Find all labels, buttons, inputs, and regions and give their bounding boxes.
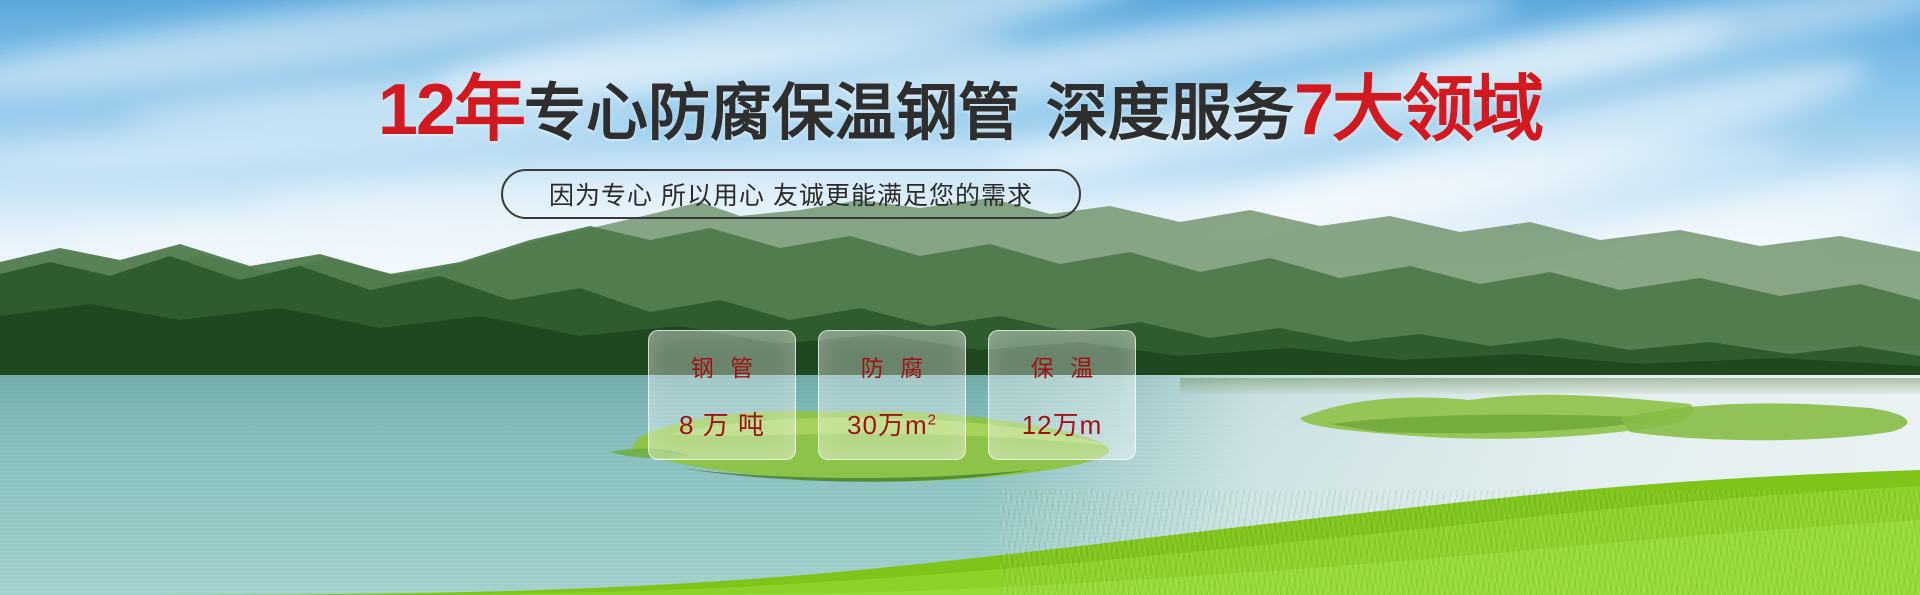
stat-card-anticorrosion[interactable]: 防 腐 30万m2: [818, 330, 966, 460]
subtitle-pill: 因为专心 所以用心 友诚更能满足您的需求: [501, 169, 1081, 219]
grass-texture: [1000, 490, 1920, 595]
headline-fields-number: 7: [1294, 70, 1332, 150]
stat-card-title: 保 温: [1026, 349, 1098, 383]
stat-card-value-superscript: 2: [928, 411, 937, 428]
headline-fields-unit: 大领域: [1332, 70, 1542, 150]
stat-card-group: 钢 管 8 万 吨 防 腐 30万m2 保 温 12万m: [648, 330, 1136, 460]
stat-card-value-text: 8 万 吨: [679, 410, 765, 440]
stat-card-value: 12万m: [1022, 405, 1103, 442]
headline-years-unit: 年: [454, 70, 524, 150]
stat-card-title: 钢 管: [686, 349, 758, 383]
stat-card-value: 8 万 吨: [679, 405, 765, 442]
headline-segment-two: 深度服务: [1046, 79, 1294, 148]
stat-card-insulation[interactable]: 保 温 12万m: [988, 330, 1136, 460]
stat-card-value: 30万m2: [847, 405, 937, 442]
stat-card-value-text: 12万m: [1022, 410, 1103, 440]
stat-card-steel-pipe[interactable]: 钢 管 8 万 吨: [648, 330, 796, 460]
headline-years-number: 12: [378, 70, 454, 150]
headline-segment-one: 专心防腐保温钢管: [524, 79, 1020, 148]
subtitle-text: 因为专心 所以用心 友诚更能满足您的需求: [549, 176, 1033, 212]
stat-card-title: 防 腐: [856, 349, 928, 383]
marsh-island-edge: [1620, 388, 1920, 448]
stat-card-value-text: 30万m: [847, 410, 928, 440]
hero-banner: 12年专心防腐保温钢管深度服务7大领域 因为专心 所以用心 友诚更能满足您的需求…: [0, 0, 1920, 595]
page-title: 12年专心防腐保温钢管深度服务7大领域: [0, 78, 1920, 146]
